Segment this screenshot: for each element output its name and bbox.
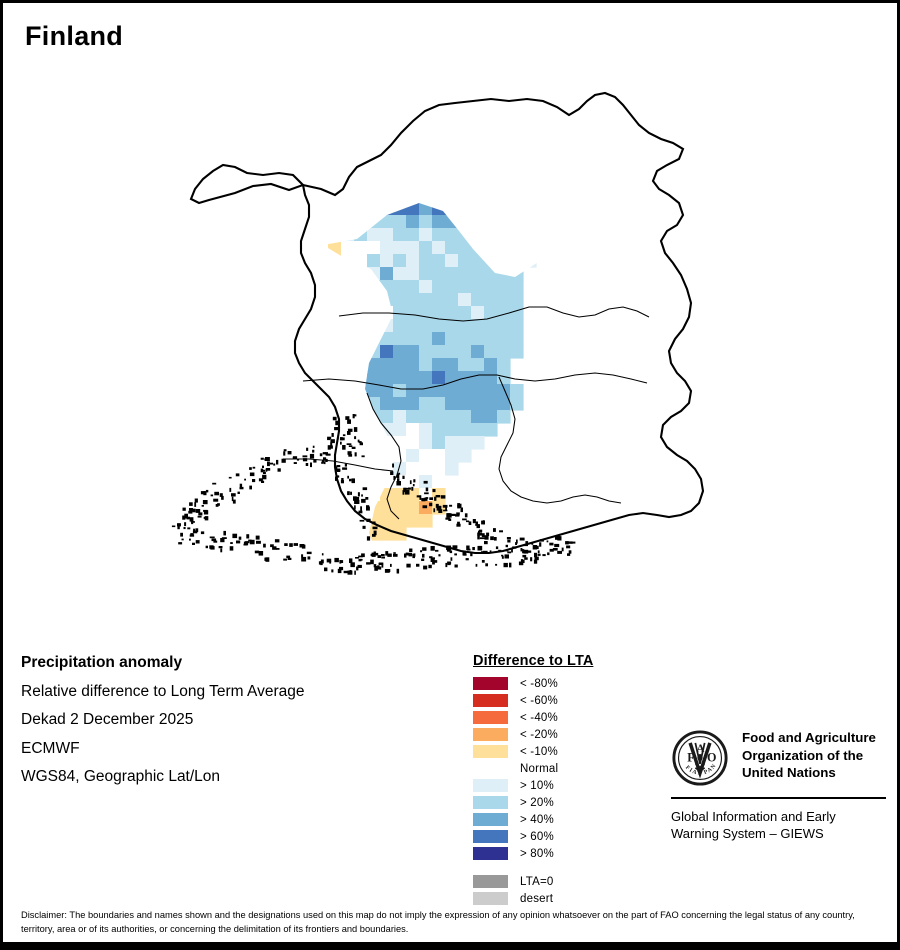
legend-extra-1[interactable]: desert xyxy=(473,890,643,907)
raster-cell xyxy=(315,475,329,489)
raster-cell xyxy=(263,358,277,372)
legend-swatch xyxy=(473,677,508,690)
raster-cell xyxy=(224,397,238,411)
raster-cell xyxy=(263,423,277,437)
raster-cell xyxy=(393,267,407,281)
raster-cell xyxy=(523,150,537,164)
raster-cell xyxy=(445,410,459,424)
raster-cell xyxy=(354,319,368,333)
coast-island-dot xyxy=(360,506,362,511)
raster-cell xyxy=(328,124,342,138)
coast-island-dot xyxy=(313,446,315,448)
raster-cell xyxy=(276,423,290,437)
raster-cell xyxy=(315,163,329,177)
raster-cell xyxy=(354,475,368,489)
raster-cell xyxy=(406,306,420,320)
raster-cell xyxy=(341,384,355,398)
raster-cell xyxy=(497,215,511,229)
giews-system-name: Global Information and EarlyWarning Syst… xyxy=(671,808,886,843)
raster-cell xyxy=(341,241,355,255)
raster-cell xyxy=(484,423,498,437)
coast-island-dot xyxy=(352,447,356,449)
raster-cell xyxy=(315,98,329,112)
raster-cell xyxy=(484,228,498,242)
legend-label: > 20% xyxy=(520,797,554,809)
raster-cell xyxy=(510,254,524,268)
raster-cell xyxy=(367,137,381,151)
coast-island-dot xyxy=(405,490,410,495)
coast-island-dot xyxy=(301,557,306,562)
raster-cell xyxy=(510,163,524,177)
coast-island-dot xyxy=(238,492,240,494)
coast-island-dot xyxy=(343,434,346,436)
coast-island-dot xyxy=(354,571,356,575)
raster-cell xyxy=(367,241,381,255)
legend-entry-2[interactable]: < -40% xyxy=(473,709,643,726)
coast-island-dot xyxy=(408,488,411,490)
raster-cell xyxy=(471,358,485,372)
coast-island-dot xyxy=(273,464,275,466)
raster-cell xyxy=(432,228,446,242)
coast-island-dot xyxy=(244,544,248,546)
coast-island-dot xyxy=(282,459,286,463)
raster-cell xyxy=(484,202,498,216)
legend-swatch xyxy=(473,830,508,843)
raster-cell xyxy=(315,280,329,294)
raster-cell xyxy=(432,137,446,151)
raster-cell xyxy=(224,124,238,138)
coast-island-dot xyxy=(502,556,504,559)
raster-cell xyxy=(367,98,381,112)
raster-cell xyxy=(484,267,498,281)
coast-island-dot xyxy=(259,551,264,556)
coast-island-dot xyxy=(320,561,322,565)
raster-cell xyxy=(432,202,446,216)
legend-entry-6[interactable]: > 10% xyxy=(473,777,643,794)
raster-cell xyxy=(497,293,511,307)
raster-cell xyxy=(406,319,420,333)
raster-cell xyxy=(281,85,295,99)
coast-island-dot xyxy=(413,479,415,482)
coast-island-dot xyxy=(557,551,562,554)
raster-cell xyxy=(367,436,381,450)
raster-cell xyxy=(367,124,381,138)
raster-cell xyxy=(250,189,264,203)
raster-cell xyxy=(380,176,394,190)
raster-cell xyxy=(263,189,277,203)
disclaimer-text: Disclaimer: The boundaries and names sho… xyxy=(21,909,881,937)
raster-cell xyxy=(476,63,490,73)
raster-cell xyxy=(458,397,472,411)
coast-island-dot xyxy=(345,464,347,467)
raster-cell xyxy=(432,332,446,346)
coast-island-dot xyxy=(481,551,486,553)
raster-cell xyxy=(406,267,420,281)
raster-cell xyxy=(289,306,303,320)
legend-extra-0[interactable]: LTA=0 xyxy=(473,873,643,890)
coast-island-dot xyxy=(465,513,468,517)
raster-cell xyxy=(419,397,433,411)
coast-island-dot xyxy=(270,463,273,465)
raster-cell xyxy=(393,371,407,385)
raster-cell xyxy=(432,358,446,372)
raster-cell xyxy=(419,436,433,450)
fao-letter-o: O xyxy=(707,750,716,764)
raster-cell xyxy=(263,267,277,281)
raster-cell xyxy=(315,215,329,229)
coast-island-dot xyxy=(485,535,489,540)
raster-cell xyxy=(198,98,212,112)
coast-island-dot xyxy=(246,534,249,538)
raster-cell xyxy=(380,501,394,515)
page-title: Finland xyxy=(25,21,123,52)
legend-entry-4[interactable]: < -10% xyxy=(473,743,643,760)
coast-island-dot xyxy=(302,545,306,549)
raster-cell xyxy=(276,150,290,164)
coast-island-dot xyxy=(306,463,309,466)
raster-cell xyxy=(315,397,329,411)
raster-cell xyxy=(328,358,342,372)
raster-cell xyxy=(328,319,342,333)
raster-cell xyxy=(302,124,316,138)
coast-island-dot xyxy=(524,544,528,546)
raster-cell xyxy=(237,215,251,229)
coast-island-dot xyxy=(193,509,196,513)
coast-island-dot xyxy=(187,527,190,529)
raster-cell xyxy=(393,293,407,307)
raster-cell xyxy=(302,488,316,502)
coast-island-dot xyxy=(334,558,339,562)
raster-cell xyxy=(380,202,394,216)
raster-cell xyxy=(276,124,290,138)
coast-island-dot xyxy=(361,499,366,503)
coast-island-dot xyxy=(569,550,572,553)
coast-island-dot xyxy=(353,496,357,501)
raster-cell xyxy=(320,72,334,86)
raster-cell xyxy=(458,254,472,268)
raster-cell xyxy=(359,63,373,73)
legend-entry-0[interactable]: < -80% xyxy=(473,675,643,692)
raster-cell xyxy=(250,501,264,515)
raster-cell xyxy=(250,241,264,255)
raster-cell xyxy=(393,332,407,346)
coast-island-dot xyxy=(562,548,564,552)
coast-island-dot xyxy=(419,495,421,500)
coast-island-dot xyxy=(322,460,324,463)
raster-cell xyxy=(224,150,238,164)
raster-cell xyxy=(419,371,433,385)
coast-island-dot xyxy=(210,537,215,539)
raster-cell xyxy=(237,436,251,450)
raster-cell xyxy=(484,111,498,125)
legend-entry-3[interactable]: < -20% xyxy=(473,726,643,743)
raster-cell xyxy=(445,150,459,164)
legend-entry-8[interactable]: > 40% xyxy=(473,811,643,828)
coast-island-dot xyxy=(441,495,446,498)
raster-cell xyxy=(419,293,433,307)
raster-cell xyxy=(315,267,329,281)
raster-cell xyxy=(320,85,334,99)
raster-cell xyxy=(250,397,264,411)
raster-cell xyxy=(302,150,316,164)
raster-cell xyxy=(406,280,420,294)
coast-island-dot xyxy=(275,539,280,542)
raster-cell xyxy=(406,475,420,489)
raster-cell xyxy=(380,267,394,281)
raster-cell xyxy=(237,254,251,268)
legend-extra-rows: LTA=0desert xyxy=(473,873,643,907)
raster-cell xyxy=(263,436,277,450)
raster-cell xyxy=(406,345,420,359)
coast-island-dot xyxy=(249,486,252,490)
coast-island-dot xyxy=(410,480,412,484)
coast-island-dot xyxy=(250,473,255,477)
coast-island-dot xyxy=(393,476,395,480)
coast-island-dot xyxy=(310,454,314,459)
coast-island-dot xyxy=(220,548,222,552)
raster-cell xyxy=(276,306,290,320)
raster-cell xyxy=(224,202,238,216)
coast-island-dot xyxy=(397,474,400,478)
raster-cell xyxy=(484,189,498,203)
coast-island-dot xyxy=(230,546,234,550)
raster-cell xyxy=(224,410,238,424)
legend-swatch xyxy=(473,892,508,905)
raster-cell xyxy=(315,371,329,385)
coast-island-dot xyxy=(361,553,365,557)
raster-cell xyxy=(484,345,498,359)
coast-island-dot xyxy=(347,491,350,495)
raster-cell xyxy=(276,111,290,125)
raster-cell xyxy=(406,501,420,515)
raster-cell xyxy=(419,358,433,372)
coast-island-dot xyxy=(350,492,352,495)
legend-entry-10[interactable]: > 80% xyxy=(473,845,643,862)
raster-cell xyxy=(471,384,485,398)
coast-island-dot xyxy=(516,540,518,544)
raster-cell xyxy=(458,306,472,320)
coast-island-dot xyxy=(424,492,429,494)
raster-cell xyxy=(276,319,290,333)
raster-cell xyxy=(510,384,524,398)
raster-cell xyxy=(510,280,524,294)
raster-cell xyxy=(367,280,381,294)
raster-cell xyxy=(328,267,342,281)
coast-island-dot xyxy=(404,554,407,558)
coast-island-dot xyxy=(326,454,331,456)
raster-cell xyxy=(237,124,251,138)
raster-cell xyxy=(458,345,472,359)
coast-island-dot xyxy=(178,542,182,544)
raster-cell xyxy=(237,98,251,112)
legend-swatch xyxy=(473,711,508,724)
legend-label: > 60% xyxy=(520,831,554,843)
raster-cell xyxy=(294,72,308,86)
raster-cell xyxy=(302,137,316,151)
raster-cell xyxy=(263,254,277,268)
raster-cell xyxy=(510,241,524,255)
raster-cell xyxy=(523,163,537,177)
coast-island-dot xyxy=(236,473,240,476)
coast-island-dot xyxy=(278,468,281,471)
fao-branding-block: F A O FIAT PANIS Food and AgricultureOrg… xyxy=(671,729,886,843)
coast-island-dot xyxy=(347,476,349,479)
info-line-2: Dekad 2 December 2025 xyxy=(21,712,451,728)
coast-island-dot xyxy=(201,531,204,534)
raster-cell xyxy=(346,85,360,99)
coast-island-dot xyxy=(455,514,459,516)
raster-cell xyxy=(445,163,459,177)
raster-cell xyxy=(437,63,451,73)
raster-cell xyxy=(406,410,420,424)
raster-cell xyxy=(393,358,407,372)
raster-cell xyxy=(354,384,368,398)
coast-island-dot xyxy=(482,560,485,563)
coast-island-dot xyxy=(547,541,549,543)
raster-cell xyxy=(471,202,485,216)
raster-cell xyxy=(471,124,485,138)
coast-island-dot xyxy=(335,466,337,469)
coast-island-dot xyxy=(339,567,343,570)
raster-cell xyxy=(250,267,264,281)
coast-island-dot xyxy=(222,537,227,539)
coast-island-dot xyxy=(494,537,497,541)
raster-cell xyxy=(359,85,373,99)
raster-cell xyxy=(471,150,485,164)
raster-cell xyxy=(437,85,451,99)
legend-swatch xyxy=(473,694,508,707)
raster-cell xyxy=(510,332,524,346)
raster-cell xyxy=(510,189,524,203)
precipitation-anomaly-map[interactable] xyxy=(143,63,763,623)
coast-island-dot xyxy=(549,543,553,546)
legend-entry-1[interactable]: < -60% xyxy=(473,692,643,709)
raster-cell xyxy=(328,293,342,307)
coast-island-dot xyxy=(539,542,541,546)
raster-cell xyxy=(432,176,446,190)
raster-cell xyxy=(471,228,485,242)
raster-cell xyxy=(250,423,264,437)
raster-cell xyxy=(354,280,368,294)
coast-island-dot xyxy=(370,560,374,565)
coast-island-dot xyxy=(385,551,388,556)
raster-cell xyxy=(445,423,459,437)
raster-cell xyxy=(458,241,472,255)
coast-island-dot xyxy=(267,462,270,467)
raster-cell xyxy=(536,189,550,203)
coast-island-dot xyxy=(424,481,428,484)
coast-island-dot xyxy=(334,427,338,430)
raster-cell xyxy=(380,293,394,307)
raster-cell xyxy=(354,462,368,476)
coast-island-dot xyxy=(276,460,278,465)
coast-island-dot xyxy=(360,520,365,522)
raster-cell xyxy=(406,215,420,229)
raster-cell xyxy=(489,72,503,86)
raster-cell xyxy=(432,215,446,229)
coast-island-dot xyxy=(190,534,194,536)
raster-cell xyxy=(289,189,303,203)
raster-cell xyxy=(432,345,446,359)
raster-cell xyxy=(450,85,464,99)
legend-entry-5[interactable]: Normal xyxy=(473,760,643,777)
fao-emblem-icon: F A O FIAT PANIS xyxy=(671,729,729,787)
raster-cell xyxy=(315,423,329,437)
coast-island-dot xyxy=(196,509,201,513)
coast-island-dot xyxy=(413,553,415,556)
raster-cell xyxy=(263,176,277,190)
raster-cell xyxy=(263,111,277,125)
raster-cell xyxy=(289,436,303,450)
coast-island-dot xyxy=(249,467,252,470)
raster-cell xyxy=(211,449,225,463)
raster-cell xyxy=(484,293,498,307)
raster-cell xyxy=(315,410,329,424)
raster-cell xyxy=(419,150,433,164)
raster-cell xyxy=(315,436,329,450)
coast-island-dot xyxy=(473,519,476,523)
coast-island-dot xyxy=(448,518,451,521)
raster-cell xyxy=(328,241,342,255)
coast-island-dot xyxy=(421,498,424,501)
coast-island-dot xyxy=(416,564,419,567)
coast-island-dot xyxy=(348,451,352,455)
raster-cell xyxy=(367,371,381,385)
raster-cell xyxy=(463,72,477,86)
raster-cell xyxy=(419,462,433,476)
raster-cell xyxy=(250,384,264,398)
coast-island-dot xyxy=(535,557,539,561)
coast-island-dot xyxy=(540,539,544,541)
raster-cell xyxy=(437,72,451,86)
coast-island-dot xyxy=(354,500,358,504)
raster-cell xyxy=(237,358,251,372)
raster-cell xyxy=(341,254,355,268)
raster-cell xyxy=(263,488,277,502)
raster-cell xyxy=(484,358,498,372)
fao-divider xyxy=(671,797,886,799)
raster-cell xyxy=(276,358,290,372)
coast-island-dot xyxy=(327,438,330,440)
coast-island-dot xyxy=(219,546,223,548)
raster-cell xyxy=(341,514,355,528)
raster-cell xyxy=(333,72,347,86)
raster-cell xyxy=(289,514,303,528)
coast-island-dot xyxy=(341,478,343,482)
raster-cell xyxy=(354,540,368,554)
raster-cell xyxy=(367,488,381,502)
legend-entry-9[interactable]: > 60% xyxy=(473,828,643,845)
raster-cell xyxy=(367,189,381,203)
raster-cell xyxy=(471,410,485,424)
raster-cell xyxy=(398,72,412,86)
coast-island-dot xyxy=(393,552,396,554)
coast-island-dot xyxy=(505,554,510,558)
raster-cell xyxy=(302,410,316,424)
coast-island-dot xyxy=(178,523,181,526)
coast-island-dot xyxy=(263,544,266,548)
coast-island-dot xyxy=(381,557,385,559)
coast-island-dot xyxy=(406,564,410,568)
raster-cell xyxy=(315,462,329,476)
raster-cell xyxy=(445,462,459,476)
legend-entry-7[interactable]: > 20% xyxy=(473,794,643,811)
raster-cell xyxy=(406,241,420,255)
coast-island-dot xyxy=(229,477,232,479)
raster-cell xyxy=(276,527,290,541)
legend-label: < -10% xyxy=(520,746,558,758)
coast-island-dot xyxy=(212,483,216,485)
